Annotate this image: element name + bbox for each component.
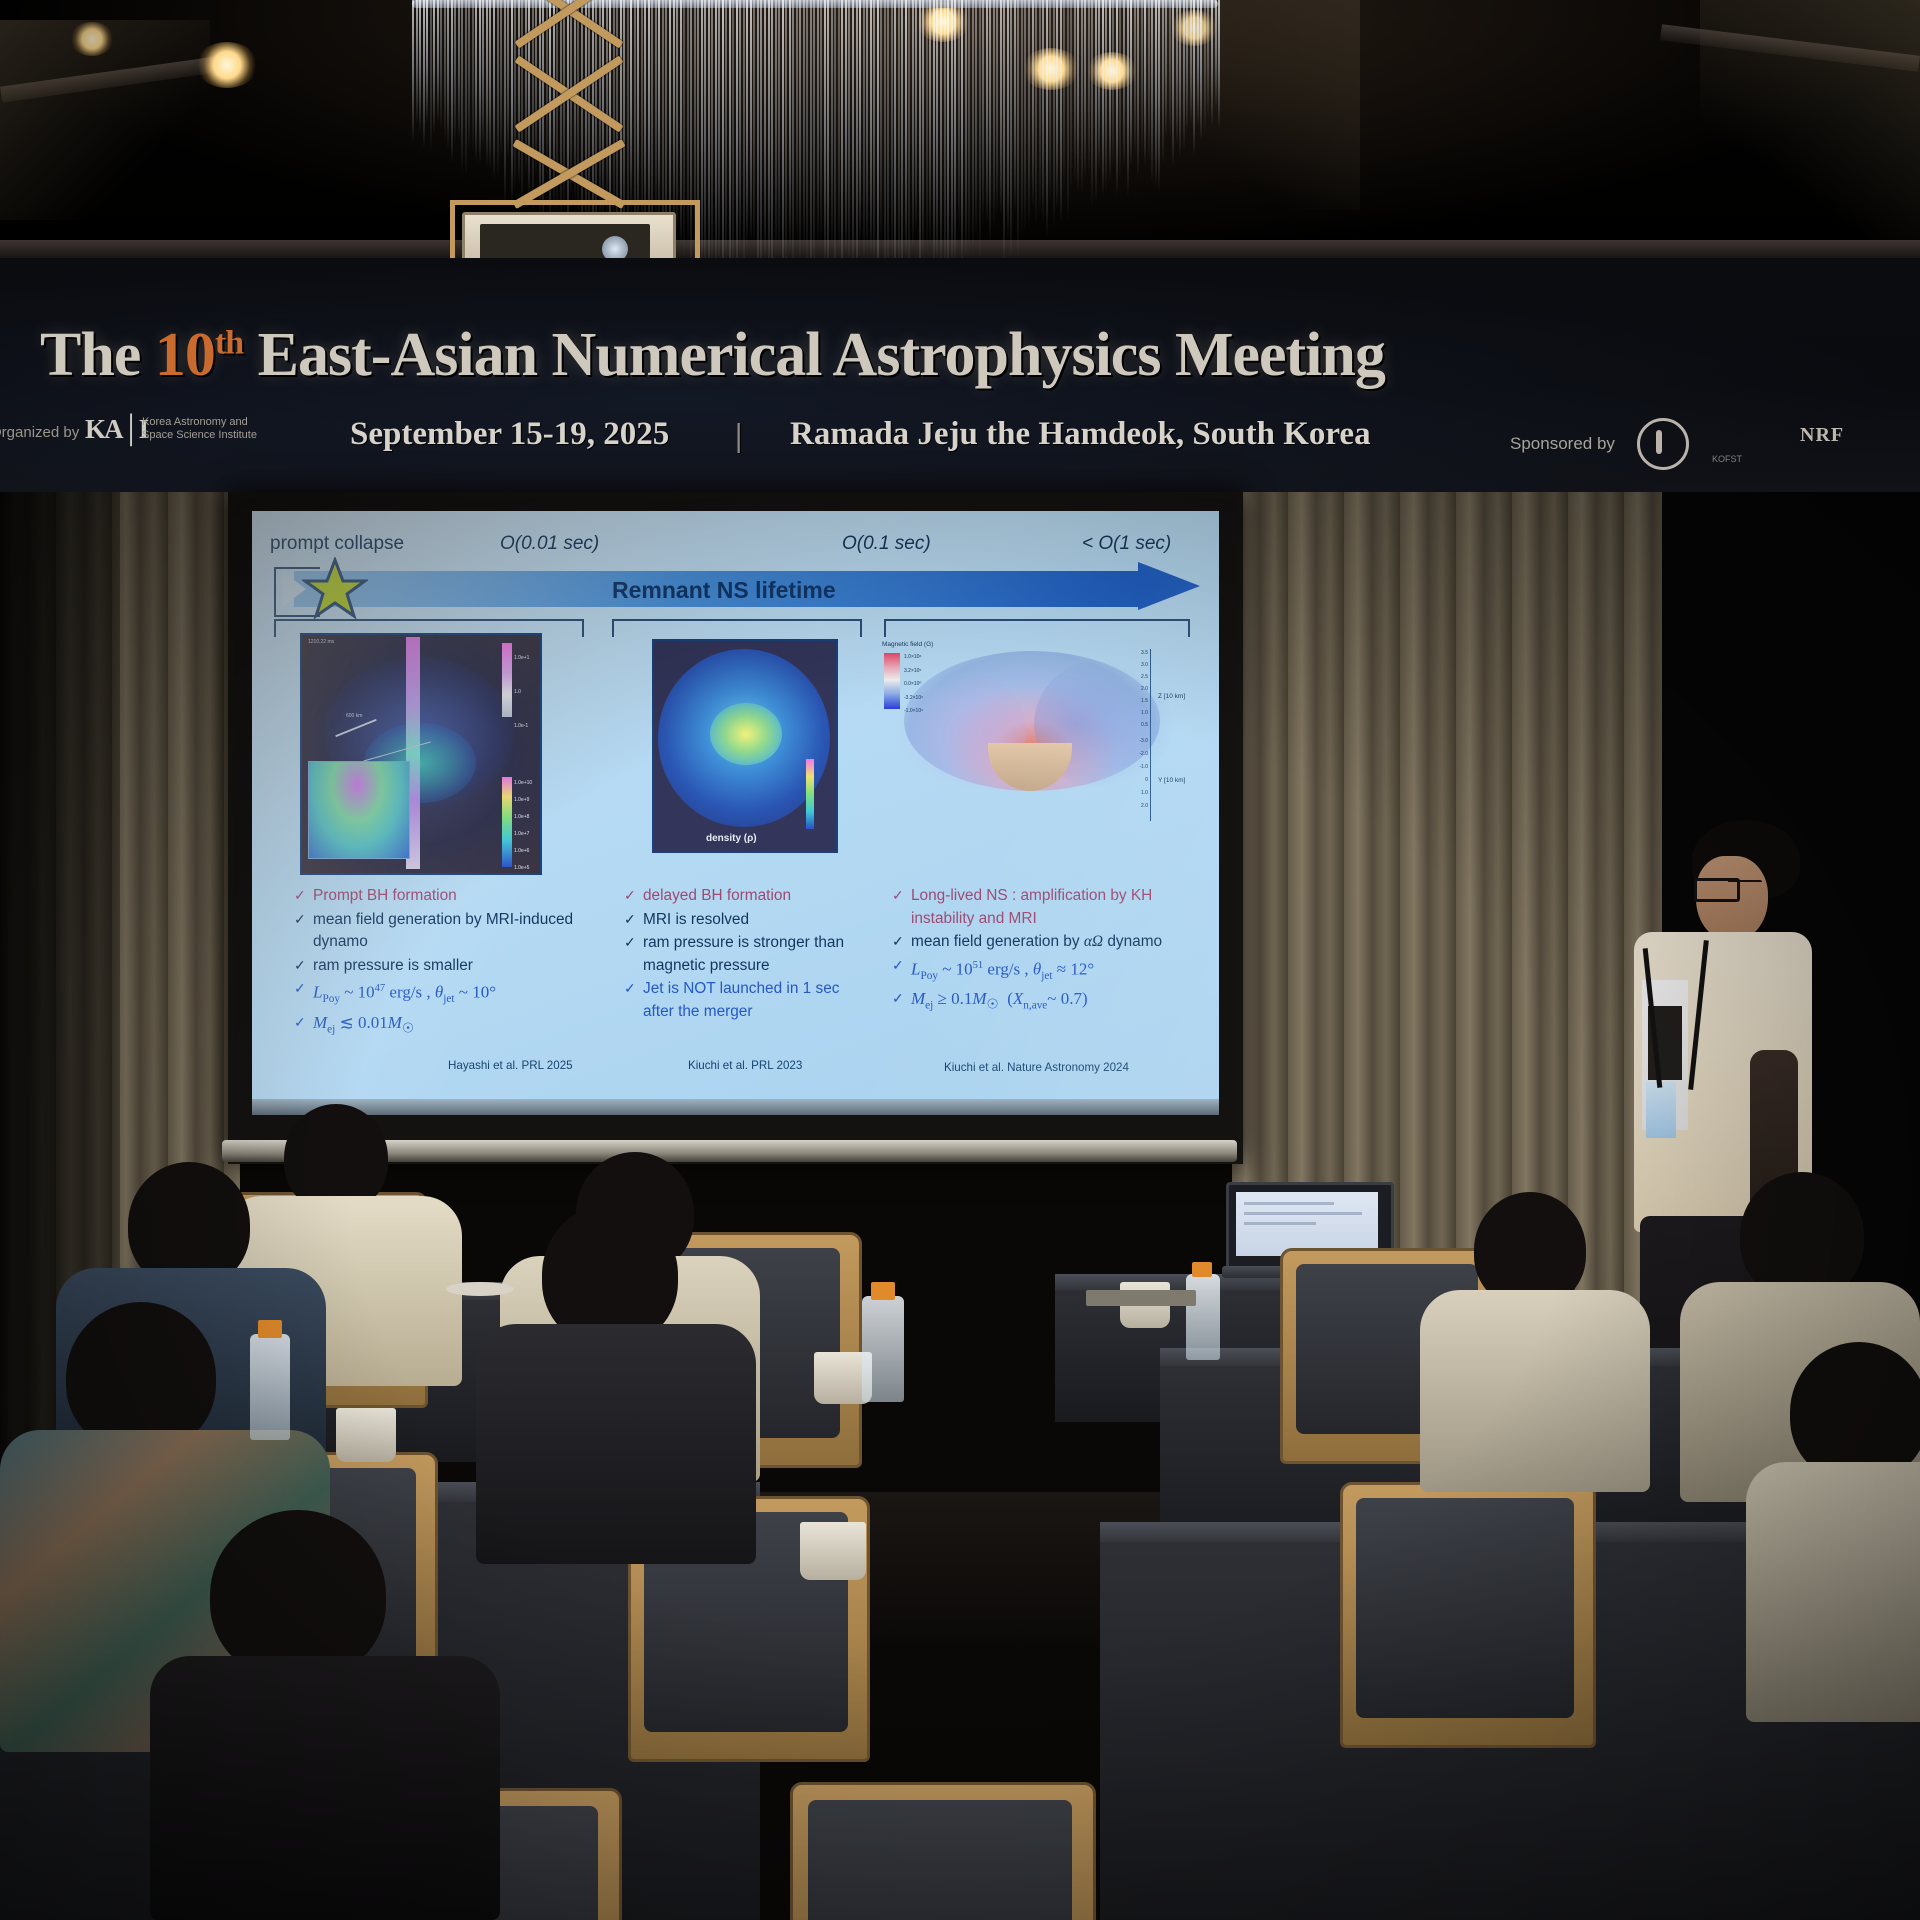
timeline-label-1: O(0.01 sec) xyxy=(500,533,599,559)
panel-1-bullet-1: mean field generation by MRI-induced dyn… xyxy=(294,909,594,954)
chandelier-strand xyxy=(1091,0,1093,208)
chandelier-strand xyxy=(750,0,752,243)
chandelier-strand xyxy=(972,0,974,253)
paper-cup-1[interactable] xyxy=(336,1408,396,1462)
fig1-colorbar-bottom xyxy=(502,777,512,867)
chandelier-strand xyxy=(968,0,970,255)
chandelier-strand xyxy=(982,0,984,223)
chandelier-strand xyxy=(859,0,861,244)
chandelier-strand xyxy=(1158,0,1160,191)
fig1-colorbar-top xyxy=(502,643,512,717)
chandelier-strand xyxy=(1042,0,1044,223)
kofst-logo: KOFST xyxy=(1712,454,1742,464)
chandelier-strand xyxy=(1141,0,1143,155)
chandelier-strand xyxy=(922,0,924,258)
timeline-arrow-label: Remnant NS lifetime xyxy=(612,577,836,604)
conference-photo: /* strands generated below */ The 10th E… xyxy=(0,0,1920,1920)
fig3-axis-y-ticks: -3.0-2.0-1.001.02.0 xyxy=(1135,735,1148,813)
chandelier-strand xyxy=(1032,0,1034,208)
chandelier-strand xyxy=(1130,0,1132,166)
stage-light-rig-far-right xyxy=(1700,0,1920,240)
audience-member-9-head xyxy=(210,1510,386,1680)
chandelier-strand xyxy=(1172,0,1174,167)
fig3-legend-ticks: 1.0×10⁶3.2×10⁵0.0×10⁰-3.2×10⁵-1.0×10⁶ xyxy=(904,651,923,719)
panel-3-bullet-3: Mej ≥ 0.1M☉ (Xn,ave~ 0.7) xyxy=(892,988,1188,1017)
chandelier-strand xyxy=(894,0,896,288)
chandelier-strand xyxy=(1074,0,1076,183)
chandelier-strand xyxy=(803,0,805,254)
audience-member-7-head xyxy=(1740,1172,1864,1300)
chair-6 xyxy=(1340,1482,1590,1842)
audience-member-4-body xyxy=(476,1324,756,1564)
chandelier-strand xyxy=(824,0,826,265)
water-bottle-2[interactable] xyxy=(250,1320,290,1440)
timeline-label-2: O(0.1 sec) xyxy=(842,533,931,559)
laptop-screen-line-3 xyxy=(1244,1222,1316,1225)
chandelier-strand xyxy=(1148,0,1150,163)
panel-3-bullet-0: Long-lived NS : amplification by KH inst… xyxy=(892,885,1188,930)
banner-title-number: 10 xyxy=(155,321,215,389)
chandelier-strand xyxy=(1112,0,1114,168)
chandelier-strand xyxy=(1119,0,1121,180)
fig2-caption: density (ρ) xyxy=(706,833,757,844)
chair-6-pad xyxy=(1356,1498,1574,1718)
fig3-axis-y-label: Y [10 km] xyxy=(1158,777,1185,784)
chandelier-strand xyxy=(739,0,741,258)
panel-3-bullets: Long-lived NS : amplification by KH inst… xyxy=(892,885,1188,1018)
chandelier-strand xyxy=(1098,0,1100,172)
timeline-label-3: < O(1 sec) xyxy=(1082,533,1171,559)
chandelier-strand xyxy=(1193,0,1195,156)
chandelier-strand xyxy=(820,0,822,246)
chandelier-strand xyxy=(1190,0,1192,124)
chandelier-strand xyxy=(845,0,847,255)
chandelier-strand xyxy=(848,0,850,269)
chandelier-strand xyxy=(1007,0,1009,240)
panel-2-bullets: delayed BH formation MRI is resolved ram… xyxy=(624,885,868,1024)
paper-cup-3[interactable] xyxy=(800,1522,866,1580)
chandelier-strand xyxy=(1204,0,1206,133)
chandelier-strand xyxy=(901,0,903,285)
panel-2-bullet-2: ram pressure is stronger than magnetic p… xyxy=(624,932,868,977)
event-banner: The 10th East-Asian Numerical Astrophysi… xyxy=(0,258,1920,496)
fig3-axis-z-ticks: 3.53.02.52.01.51.00.5 xyxy=(1138,647,1148,731)
chandelier-strand xyxy=(1183,0,1185,150)
notebook-1[interactable] xyxy=(1086,1290,1196,1306)
projection-screen: prompt collapse O(0.01 sec) O(0.1 sec) <… xyxy=(252,511,1219,1099)
chandelier-strand xyxy=(1077,0,1079,193)
chandelier-strand xyxy=(989,0,991,245)
chandelier-strand xyxy=(993,0,995,228)
banner-title-prefix: The xyxy=(40,321,155,389)
chandelier-strand xyxy=(1169,0,1171,139)
timeline-label-0: prompt collapse xyxy=(270,533,404,559)
chandelier-strand xyxy=(764,0,766,263)
chandelier-strand xyxy=(986,0,988,223)
timeline-arrow: Remnant NS lifetime xyxy=(272,565,1202,613)
chandelier-strand xyxy=(1024,0,1026,231)
presenter-glasses-temple xyxy=(1728,880,1762,884)
panel-1-citation: Hayashi et al. PRL 2025 xyxy=(448,1059,573,1072)
chandelier-strand xyxy=(806,0,808,268)
panel-2-bullet-0: delayed BH formation xyxy=(624,885,868,908)
chandelier-strand xyxy=(1176,0,1178,146)
panel-1-bullets: Prompt BH formation mean field generatio… xyxy=(294,885,594,1041)
panel-3-bullet-2: LPoy ~ 1051 erg/s , θjet ≈ 12° xyxy=(892,955,1188,988)
chandelier-strand xyxy=(1186,0,1188,133)
chandelier-strand xyxy=(975,0,977,239)
fig2-core xyxy=(710,703,782,765)
fig1-scale-label: 600 km xyxy=(346,713,362,719)
fig3-axis-line xyxy=(1150,649,1151,821)
star-outline-chevron-icon xyxy=(274,567,320,617)
nrf-logo: NRF xyxy=(1800,424,1844,447)
panel-2-citation: Kiuchi et al. PRL 2023 xyxy=(688,1059,802,1072)
chandelier-strand xyxy=(412,0,414,143)
chandelier-strand xyxy=(1049,0,1051,204)
chandelier-strand xyxy=(1211,0,1213,126)
chandelier-strand xyxy=(1151,0,1153,184)
chandelier-strand xyxy=(1060,0,1062,223)
chandelier-strand xyxy=(1162,0,1164,164)
water-bottle-2-body xyxy=(250,1334,290,1440)
chandelier-strand xyxy=(877,0,879,294)
chandelier-strand xyxy=(996,0,998,216)
chandelier-strand xyxy=(891,0,893,263)
banner-title: The 10th East-Asian Numerical Astrophysi… xyxy=(40,320,1880,398)
chandelier-strand xyxy=(866,0,868,254)
chandelier-strand xyxy=(1109,0,1111,181)
chandelier-strand xyxy=(1123,0,1125,168)
audience-member-8-body xyxy=(1746,1462,1920,1722)
chandelier-strand xyxy=(1155,0,1157,188)
chandelier-strand xyxy=(926,0,928,254)
fig1-timestamp: 1210.22 ms xyxy=(308,639,334,645)
chandelier-strand xyxy=(961,0,963,266)
water-bottle-2-cap xyxy=(258,1320,282,1338)
audience-member-4 xyxy=(476,1204,756,1564)
chandelier-strand xyxy=(1207,0,1209,118)
panel-2-bullet-1: MRI is resolved xyxy=(624,909,868,932)
chandelier-strand xyxy=(426,0,428,124)
chandelier-strand xyxy=(1088,0,1090,177)
banner-divider: | xyxy=(735,418,742,455)
chandelier-strand xyxy=(1053,0,1055,229)
timeline-label-0-text: prompt collapse xyxy=(270,533,404,554)
chandelier-strand xyxy=(841,0,843,291)
chandelier-strand xyxy=(1215,0,1217,109)
chandelier-strand xyxy=(908,0,910,285)
panel-1-bullet-3: LPoy ~ 1047 erg/s , θjet ~ 10° xyxy=(294,978,594,1011)
chandelier-strand xyxy=(768,0,770,275)
chandelier-strand xyxy=(799,0,801,262)
chandelier-strand xyxy=(1028,0,1030,228)
chandelier-strand xyxy=(1116,0,1118,196)
fig2-colorbar xyxy=(806,759,814,829)
chandelier-strand xyxy=(912,0,914,249)
chandelier-strand xyxy=(905,0,907,258)
timeline-label-1-text: O(0.01 sec) xyxy=(500,533,599,554)
chandelier-strand xyxy=(863,0,865,263)
laptop-screen-line-1 xyxy=(1244,1202,1334,1205)
banner-subtitle: September 15-19, 2025 | Ramada Jeju the … xyxy=(0,416,1920,464)
chandelier-strand xyxy=(1218,0,1220,129)
audience-member-6-body xyxy=(1420,1290,1650,1492)
chandelier-strand xyxy=(1200,0,1202,141)
audience-member-6 xyxy=(1420,1192,1650,1492)
chandelier-strand xyxy=(915,0,917,236)
chandelier-strand xyxy=(789,0,791,254)
chandelier-strand xyxy=(834,0,836,291)
kasi-name: Korea Astronomy and Space Science Instit… xyxy=(142,416,272,442)
chandelier-strand xyxy=(753,0,755,249)
banner-title-rest: East-Asian Numerical Astrophysics Meetin… xyxy=(258,321,1385,389)
chandelier-strand xyxy=(817,0,819,246)
chandelier-strand xyxy=(771,0,773,289)
audience-member-9-body xyxy=(150,1656,500,1920)
chandelier-strand xyxy=(792,0,794,274)
fig1-colorbar-top-ticks: 1.0e+11.01.0e-1 xyxy=(514,641,529,743)
banner-venue: Ramada Jeju the Hamdeok, South Korea xyxy=(790,416,1371,453)
scissor-arm-2 xyxy=(515,0,624,49)
audience-member-9 xyxy=(150,1510,500,1920)
chandelier-strand xyxy=(1095,0,1097,203)
water-bottle-1-body xyxy=(862,1296,904,1402)
chandelier-strand xyxy=(1014,0,1016,214)
chandelier-strand xyxy=(1039,0,1041,216)
chandelier-strand xyxy=(1056,0,1058,209)
chandelier-strand xyxy=(419,0,421,133)
chandelier-strand xyxy=(775,0,777,258)
chandelier-strand xyxy=(430,0,432,153)
chair-8-pad xyxy=(808,1800,1072,1920)
stage-light-rig-left xyxy=(0,20,210,220)
panel-3-citation: Kiuchi et al. Nature Astronomy 2024 xyxy=(944,1061,1129,1074)
chandelier-strand xyxy=(423,0,425,148)
chandelier-strand xyxy=(760,0,762,286)
chair-8 xyxy=(790,1782,1090,1920)
laptop-screen-line-2 xyxy=(1244,1212,1362,1215)
audience-member-8-head xyxy=(1790,1342,1920,1482)
chandelier-strand xyxy=(1134,0,1136,156)
timeline-label-3-text: < O(1 sec) xyxy=(1082,533,1171,554)
chandelier-strand xyxy=(929,0,931,244)
chandelier-strand xyxy=(743,0,745,280)
panel-1-bullet-0: Prompt BH formation xyxy=(294,885,594,908)
chandelier-strand xyxy=(1144,0,1146,166)
chandelier-strand xyxy=(873,0,875,264)
chandelier-strand xyxy=(954,0,956,264)
fig3-legend-bar xyxy=(884,653,900,709)
fig3-legend-title: Magnetic field (G) xyxy=(882,641,933,648)
sponsored-by-label: Sponsored by xyxy=(1510,434,1615,454)
chandelier-strand xyxy=(958,0,960,233)
fig1-colorbar-bottom-ticks: 1.0e+101.0e+91.0e+81.0e+71.0e+61.0e+5 xyxy=(514,775,532,875)
chandelier-strand xyxy=(940,0,942,272)
chandelier-strand xyxy=(1000,0,1002,217)
water-bottle-1-cap xyxy=(871,1282,895,1300)
panel-3-bullet-1: mean field generation by αΩ dynamo xyxy=(892,931,1188,954)
audience-member-8 xyxy=(1746,1342,1920,1722)
chandelier-strand xyxy=(856,0,858,287)
chandelier-strand xyxy=(933,0,935,269)
chandelier-strand xyxy=(884,0,886,292)
chandelier-strand xyxy=(813,0,815,272)
chandelier-strand xyxy=(810,0,812,295)
chandelier-strand xyxy=(1010,0,1012,258)
chandelier-strand xyxy=(778,0,780,258)
chandelier-strand xyxy=(951,0,953,270)
chandelier-strand xyxy=(827,0,829,280)
banner-title-ordinal: th xyxy=(215,324,243,361)
chandelier-strand xyxy=(746,0,748,247)
chandelier-strand xyxy=(936,0,938,265)
chandelier-strand xyxy=(416,0,418,124)
chandelier-strand xyxy=(838,0,840,257)
panel-1-bullet-4: Mej ≲ 0.01M☉ xyxy=(294,1012,594,1041)
chandelier-strand xyxy=(1105,0,1107,191)
timeline-arrow-head-icon xyxy=(1138,562,1200,610)
fig3-axis-z-label: Z [10 km] xyxy=(1158,693,1185,700)
chandelier-strand xyxy=(1063,0,1065,191)
chandelier-strand xyxy=(1165,0,1167,140)
chandelier-strand xyxy=(796,0,798,246)
chandelier-strand xyxy=(1197,0,1199,126)
chandelier-strand xyxy=(757,0,759,294)
water-bottle-1[interactable] xyxy=(862,1282,904,1402)
chandelier-strand xyxy=(944,0,946,282)
sponsor-logo-icon xyxy=(1637,418,1689,470)
chandelier-strand xyxy=(1046,0,1048,237)
banner-date: September 15-19, 2025 xyxy=(350,416,669,453)
chandelier-strand xyxy=(898,0,900,278)
panel-2-bullet-3: Jet is NOT launched in 1 sec after the m… xyxy=(624,978,868,1023)
timeline-label-2-text: O(0.1 sec) xyxy=(842,533,931,554)
water-bottle-3-cap xyxy=(1192,1262,1212,1277)
panel-1-bullet-2: ram pressure is smaller xyxy=(294,955,594,978)
chandelier-strand xyxy=(782,0,784,283)
figure-density-sphere-simulation: density (ρ) xyxy=(652,639,838,853)
chandelier-strand xyxy=(1102,0,1104,196)
organized-by-label: Organized by xyxy=(0,424,79,441)
plate-1 xyxy=(446,1282,514,1296)
water-bottle-3-body xyxy=(1186,1274,1220,1360)
projection-screen-frame: prompt collapse O(0.01 sec) O(0.1 sec) <… xyxy=(228,492,1243,1164)
chandelier-strand xyxy=(1067,0,1069,224)
chandelier-strand xyxy=(1003,0,1005,267)
chandelier-strand xyxy=(785,0,787,272)
chandelier-strand xyxy=(880,0,882,246)
chandelier-strand xyxy=(831,0,833,252)
chandelier-strand xyxy=(433,0,435,134)
chandelier-strand xyxy=(732,0,734,286)
presentation-slide: prompt collapse O(0.01 sec) O(0.1 sec) <… xyxy=(252,511,1219,1099)
chandelier-strand xyxy=(1070,0,1072,191)
chandelier-strand xyxy=(736,0,738,280)
chandelier-strand xyxy=(1035,0,1037,226)
water-bottle-3[interactable] xyxy=(1186,1262,1220,1360)
fig1-inset-panel xyxy=(308,761,410,859)
chandelier-strand xyxy=(437,0,439,123)
chandelier-strand xyxy=(1081,0,1083,194)
chandelier-strand xyxy=(887,0,889,282)
figure-magnetic-field-remnant-simulation: Magnetic field (G) 1.0×10⁶3.2×10⁵0.0×10⁰… xyxy=(882,631,1200,843)
chandelier-strand xyxy=(1179,0,1181,158)
chandelier-strand xyxy=(979,0,981,261)
kasi-logo: KA│I xyxy=(85,414,147,445)
chandelier-strand xyxy=(870,0,872,257)
chandelier-strand xyxy=(1137,0,1139,179)
presenter-badge xyxy=(1646,1082,1676,1138)
chandelier-strand xyxy=(965,0,967,258)
chandelier-strand xyxy=(1021,0,1023,238)
figure-jet-magnetized-outflow-simulation: 1210.22 ms 600 km 1.0e+11.01.0e-1 1.0e+1… xyxy=(300,633,542,875)
hall-interior: prompt collapse O(0.01 sec) O(0.1 sec) <… xyxy=(0,492,1920,1920)
chandelier-strand xyxy=(919,0,921,288)
chandelier-strand xyxy=(1017,0,1019,257)
chandelier-strand xyxy=(1084,0,1086,179)
chandelier-strand xyxy=(947,0,949,278)
chandelier-strand xyxy=(1127,0,1129,197)
chandelier-strand xyxy=(852,0,854,273)
